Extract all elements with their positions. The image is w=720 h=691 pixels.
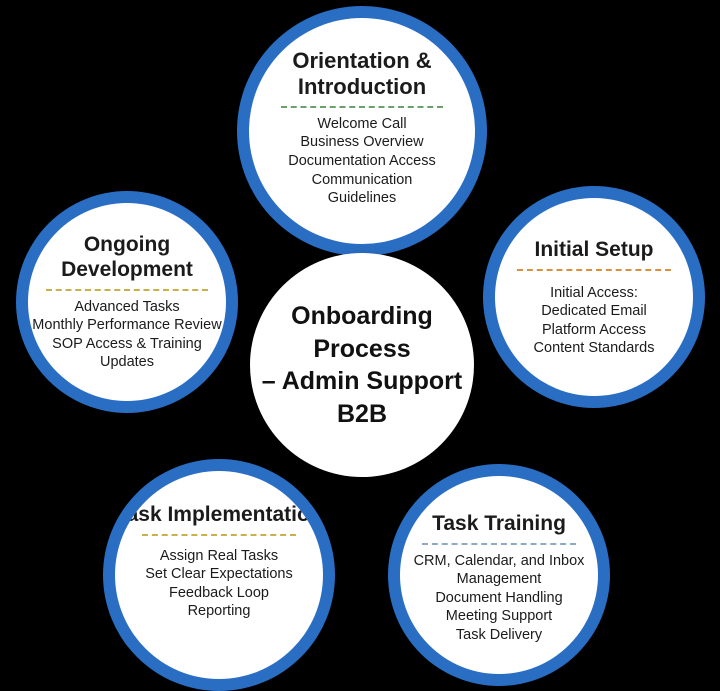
petal-task-implementation-inner: Task Implementation Assign Real Tasks Se… xyxy=(115,471,323,679)
petal-ongoing-development-divider xyxy=(46,289,208,291)
petal-initial-setup-divider xyxy=(517,269,671,271)
petal-ongoing-development[interactable]: Ongoing Development Advanced Tasks Month… xyxy=(16,191,238,413)
petal-task-training-inner: Task Training CRM, Calendar, and Inbox M… xyxy=(400,476,598,674)
petal-initial-setup-title: Initial Setup xyxy=(534,238,653,263)
petal-task-training-body: CRM, Calendar, and Inbox Management Docu… xyxy=(414,552,585,645)
petal-task-implementation-title: Task Implementation xyxy=(115,503,322,528)
petal-orientation-inner: Orientation & Introduction Welcome Call … xyxy=(249,18,475,244)
petal-task-implementation-divider xyxy=(142,534,296,536)
petal-task-training-divider xyxy=(422,543,576,545)
petal-orientation-introduction[interactable]: Orientation & Introduction Welcome Call … xyxy=(237,6,487,256)
center-title: Onboarding Process – Admin Support B2B xyxy=(262,300,462,430)
petal-initial-setup[interactable]: Initial Setup Initial Access: Dedicated … xyxy=(483,186,705,408)
petal-ongoing-development-title: Ongoing Development xyxy=(28,233,226,283)
diagram-canvas: Orientation & Introduction Welcome Call … xyxy=(0,0,720,689)
petal-task-training-title: Task Training xyxy=(432,512,566,537)
petal-task-implementation-body: Assign Real Tasks Set Clear Expectations… xyxy=(145,547,293,621)
petal-orientation-divider xyxy=(281,106,444,108)
center-circle[interactable]: Onboarding Process – Admin Support B2B xyxy=(250,253,474,477)
petal-task-training[interactable]: Task Training CRM, Calendar, and Inbox M… xyxy=(388,464,610,686)
petal-initial-setup-inner: Initial Setup Initial Access: Dedicated … xyxy=(495,198,693,396)
petal-ongoing-development-inner: Ongoing Development Advanced Tasks Month… xyxy=(28,203,226,401)
petal-initial-setup-body: Initial Access: Dedicated Email Platform… xyxy=(534,284,655,358)
petal-task-implementation[interactable]: Task Implementation Assign Real Tasks Se… xyxy=(103,459,335,691)
petal-orientation-title: Orientation & Introduction xyxy=(249,48,475,100)
petal-orientation-body: Welcome Call Business Overview Documenta… xyxy=(288,115,436,208)
petal-ongoing-development-body: Advanced Tasks Monthly Performance Revie… xyxy=(32,298,221,372)
